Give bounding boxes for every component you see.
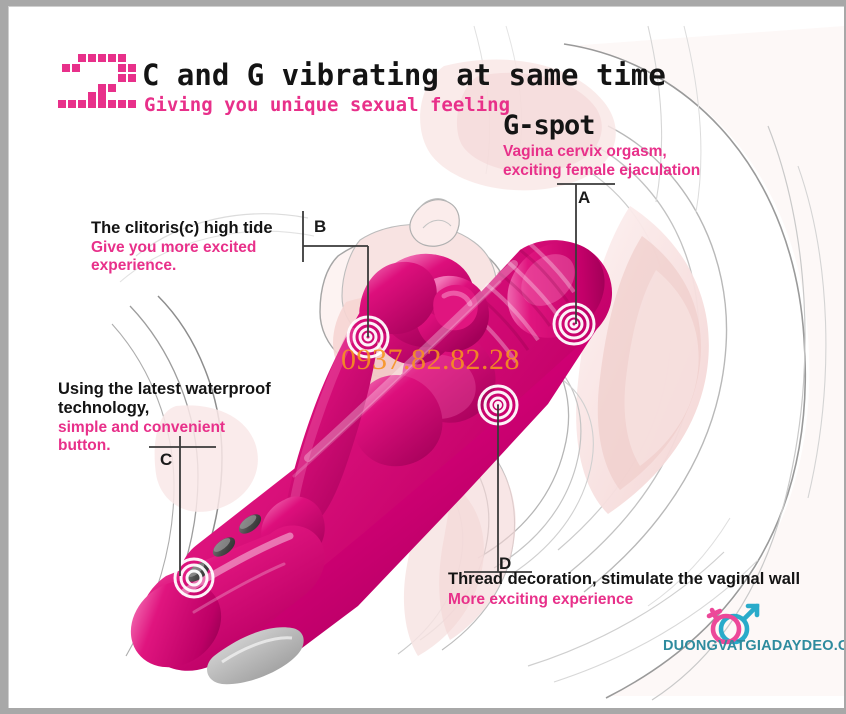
- callout-gspot-line1: Vagina cervix orgasm,: [503, 143, 700, 160]
- page-title: C and G vibrating at same time: [142, 58, 666, 92]
- callout-clitoris-line2: experience.: [91, 257, 273, 274]
- callout-waterproof-title-line2: technology,: [58, 399, 271, 418]
- page-subtitle: Giving you unique sexual feeling: [144, 94, 510, 116]
- brand-logo: DUONGVATGIADAYDEO.COM: [663, 602, 843, 668]
- callout-gspot: G-spot Vagina cervix orgasm, exciting fe…: [503, 110, 700, 180]
- callout-clitoris: The clitoris(c) high tide Give you more …: [91, 219, 273, 275]
- phone-watermark: 0937.82.82.28: [341, 343, 520, 377]
- callout-gspot-title: G-spot: [503, 110, 700, 141]
- marker-a: A: [578, 188, 590, 208]
- callout-waterproof-title-line1: Using the latest waterproof: [58, 380, 271, 399]
- illustration-canvas: C and G vibrating at same time Giving yo…: [8, 6, 844, 708]
- brand-name: DUONGVATGIADAYDEO.COM: [663, 638, 844, 654]
- callout-waterproof-line1: simple and convenient: [58, 419, 271, 436]
- callout-clitoris-title: The clitoris(c) high tide: [91, 219, 273, 238]
- screenshot-frame: C and G vibrating at same time Giving yo…: [0, 0, 846, 714]
- marker-d: D: [499, 554, 511, 574]
- marker-c: C: [160, 450, 172, 470]
- marker-b: B: [314, 217, 326, 237]
- callout-clitoris-line1: Give you more excited: [91, 239, 273, 256]
- callout-waterproof: Using the latest waterproof technology, …: [58, 380, 271, 455]
- numeral-2-dotmatrix-logo: [54, 46, 150, 110]
- callout-gspot-line2: exciting female ejaculation: [503, 162, 700, 179]
